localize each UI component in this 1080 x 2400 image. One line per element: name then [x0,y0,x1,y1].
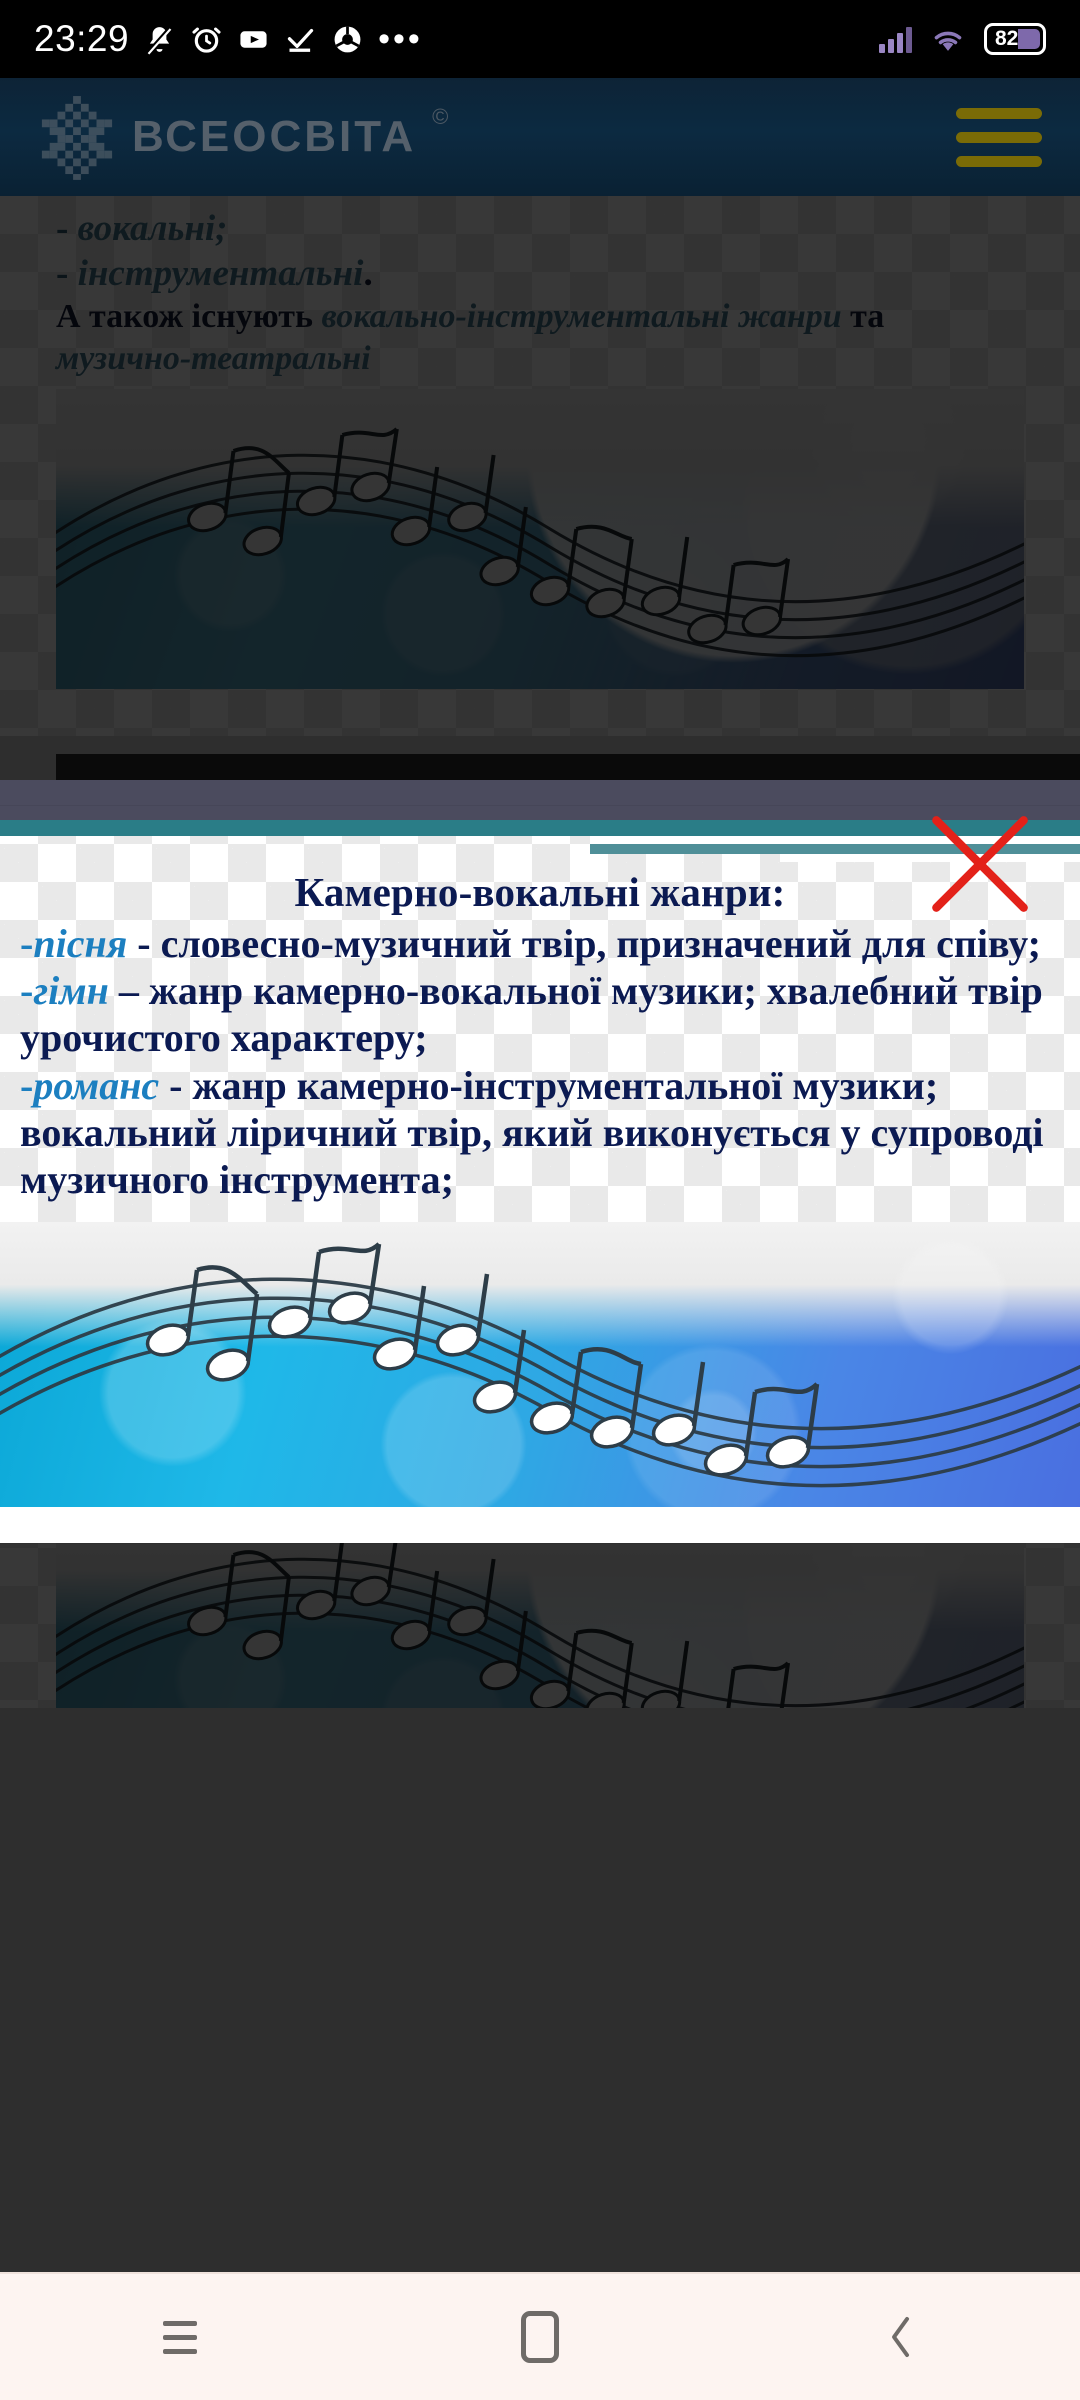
site-header: ВСЕОСВІТА © [0,78,1080,196]
copyright-icon: © [432,94,448,140]
paragraph-prefix: А також існують [56,298,321,335]
bullet-dash: - [56,253,68,294]
card-item-2: -гімн – жанр камерно-вокальної музики; х… [20,967,1060,1061]
back-button[interactable] [825,2287,975,2387]
popup-slide-card[interactable]: Камерно-вокальні жанри: -пісня - словесн… [0,806,1080,1543]
card-term-1: пісня [33,921,127,966]
slide-top-line-1: - вокальні; [56,206,1024,251]
card-dash-2: – [109,968,149,1013]
paragraph-term-1: вокально-інструментальні жанри [321,298,841,335]
home-button[interactable] [465,2287,615,2387]
paragraph-middle: та [842,298,885,335]
card-dash-1: - [127,921,160,966]
slide-top-line-2: - інструментальні. [56,251,1024,296]
alarm-icon [190,23,223,56]
card-term-2: гімн [33,968,109,1013]
slide-top-term-1: вокальні; [78,208,228,249]
status-time: 23:29 [34,18,129,60]
recents-button[interactable] [105,2287,255,2387]
home-icon [521,2311,559,2363]
paragraph-term-2: музично-театральні [56,340,371,377]
hamburger-menu-icon[interactable] [956,108,1042,167]
bell-muted-icon [143,23,176,56]
bullet-dash: - [20,968,33,1013]
overflow-dots-icon: ••• [378,32,423,46]
back-chevron-icon [887,2315,913,2359]
card-item-1: -пісня - словесно-музичний твір, признач… [20,920,1060,967]
download-complete-icon [284,23,317,56]
youtube-icon [237,23,270,56]
card-title: Камерно-вокальні жанри: [20,868,1060,916]
card-text-1: словесно-музичний твір, призначений для … [161,921,1041,966]
musical-staff-illustration [0,1222,1080,1507]
card-bottom-spacer [0,1507,1080,1543]
cellular-signal-icon [879,25,912,53]
chrome-icon [331,23,364,56]
close-x-icon[interactable] [928,812,1032,916]
card-top-glitch [0,806,1080,862]
brand[interactable]: ВСЕОСВІТА © [38,94,448,180]
musical-staff-illustration [56,389,1024,689]
bullet-dash: - [56,208,68,249]
battery-level-text: 82 [991,27,1018,51]
card-item-3: -романс - жанр камерно-інструментальної … [20,1062,1060,1204]
card-text-2: жанр камерно-вокальної музики; хвалебний… [20,968,1043,1060]
battery-indicator: 82 [984,23,1046,55]
bullet-dash: - [20,921,33,966]
slide-top-term-2: інструментальні [78,253,364,294]
card-term-3: романс [33,1063,159,1108]
card-dash-3: - [159,1063,192,1108]
brand-name: ВСЕОСВІТА [132,94,416,180]
slide-top-paragraph: А також існують вокально-інструментальні… [56,296,1024,379]
background-slide-top[interactable]: - вокальні; - інструментальні. А також і… [0,196,1080,736]
status-bar: 23:29 [0,0,1080,78]
bullet-dash: - [20,1063,33,1108]
android-nav-bar [0,2272,1080,2400]
slide-top-rest-2: . [363,253,372,294]
embroidery-star-logo [38,94,116,180]
phone-screen: - вокальні; - інструментальні. А також і… [0,0,1080,2400]
wifi-icon [929,25,967,53]
recents-icon [163,2321,197,2354]
